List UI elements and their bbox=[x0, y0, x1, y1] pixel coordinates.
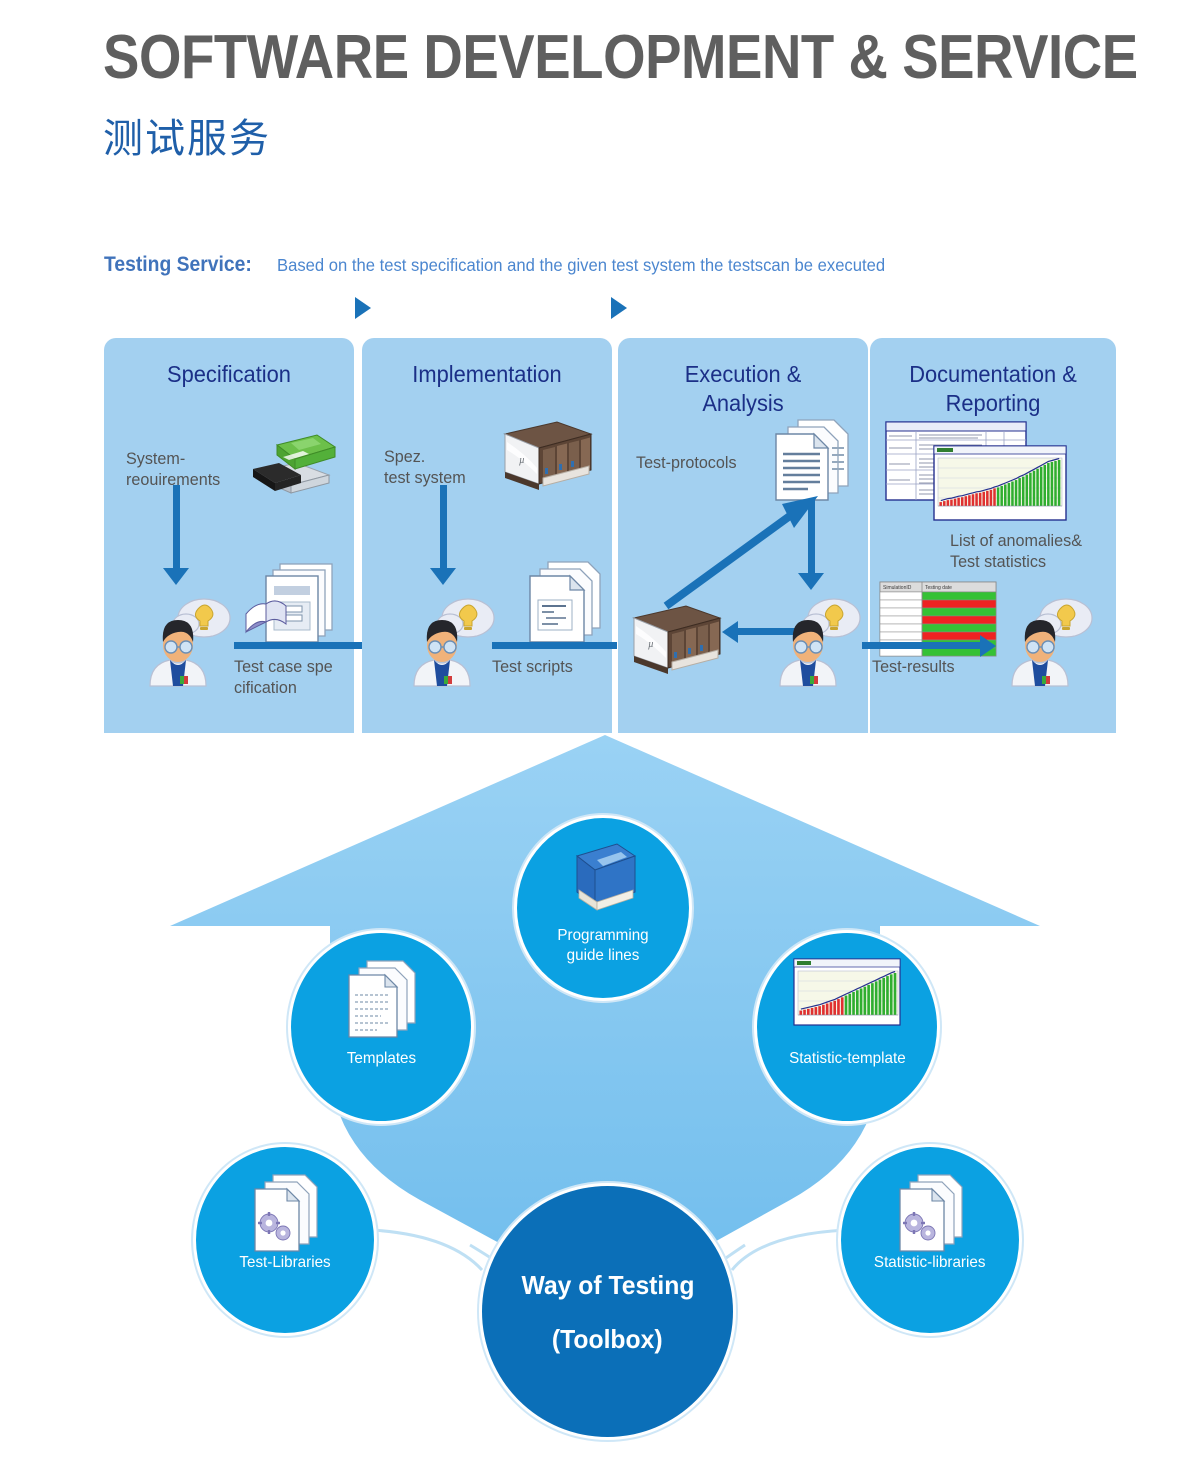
node-statistic-libraries[interactable]: Statistic-libraries bbox=[841, 1147, 1019, 1333]
node-caption: Programming guide lines bbox=[557, 926, 648, 970]
intro-text: Based on the test specification and the … bbox=[277, 255, 885, 276]
node-caption: Statistic-template bbox=[789, 1049, 906, 1073]
node-programming-guide-lines[interactable]: Programming guide lines bbox=[517, 818, 689, 998]
panel-title-implementation: Implementation bbox=[368, 360, 606, 389]
toolbox-center-line2: (Toolbox) bbox=[552, 1312, 663, 1366]
panel-title-execution: Execution & Analysis bbox=[624, 360, 862, 418]
arrow-impl-to-exec-head bbox=[611, 297, 627, 319]
svg-text:Testing date: Testing date bbox=[925, 585, 952, 591]
blue-book-icon bbox=[557, 838, 649, 918]
arrow-down-impl bbox=[440, 485, 447, 570]
arrow-right-results bbox=[862, 642, 982, 649]
arrow-right-spec bbox=[234, 642, 364, 649]
arrow-down-impl-head bbox=[430, 568, 456, 585]
node-caption: Test-Libraries bbox=[239, 1253, 330, 1277]
arrow-down-exec-head bbox=[798, 573, 824, 590]
label-spez-test-system: Spez. test system bbox=[384, 446, 508, 488]
green-book-hardware-icon bbox=[239, 423, 339, 498]
toolbox-center-line1: Way of Testing bbox=[521, 1258, 694, 1312]
node-caption: Templates bbox=[346, 1049, 415, 1073]
label-test-scripts: Test scripts bbox=[492, 656, 625, 677]
chart-icon bbox=[792, 957, 902, 1035]
arrow-down-spec bbox=[173, 485, 180, 570]
panel-title-documentation: Documentation & Reporting bbox=[876, 360, 1110, 418]
panel-title-specification: Specification bbox=[110, 360, 348, 389]
label-test-protocols: Test-protocols bbox=[636, 452, 760, 473]
label-test-case-specification: Test case spe cification bbox=[234, 656, 367, 698]
svg-text:µ: µ bbox=[648, 639, 654, 650]
label-test-results: Test-results bbox=[872, 656, 1005, 677]
arrow-right-results-head bbox=[980, 635, 996, 657]
svg-text:µ: µ bbox=[519, 455, 525, 466]
intro-label: Testing Service: bbox=[104, 253, 252, 277]
report-chart-icon bbox=[882, 418, 1072, 528]
arrow-right-impl bbox=[492, 642, 617, 649]
arrow-down-exec bbox=[808, 500, 815, 575]
intro-row: Testing Service: Based on the test speci… bbox=[104, 253, 1124, 277]
gear-documents-icon bbox=[880, 1171, 980, 1263]
svg-text:SimulationID: SimulationID bbox=[883, 585, 912, 591]
arrow-down-spec-head bbox=[163, 568, 189, 585]
panel-execution-analysis: Execution & Analysis Test-protocols bbox=[618, 338, 868, 733]
server-rack-icon: µ bbox=[626, 600, 726, 678]
node-way-of-testing-toolbox[interactable]: Way of Testing (Toolbox) bbox=[482, 1186, 733, 1437]
label-anomalies-statistics: List of anomalies& Test statistics bbox=[950, 530, 1112, 572]
panel-implementation: Implementation µ Spez. test system bbox=[362, 338, 612, 733]
arrow-spec-to-impl-head bbox=[355, 297, 371, 319]
node-test-libraries[interactable]: Test-Libraries bbox=[196, 1147, 374, 1333]
node-templates[interactable]: Templates bbox=[291, 933, 471, 1121]
scientist-idea-icon bbox=[998, 590, 1108, 690]
documents-icon bbox=[331, 957, 431, 1049]
server-rack-icon: µ bbox=[497, 416, 597, 494]
arrow-left-exec-head bbox=[722, 621, 738, 643]
label-system-requirements: System- reouirements bbox=[126, 448, 250, 490]
scientist-idea-icon bbox=[766, 590, 876, 690]
gear-documents-icon bbox=[235, 1171, 335, 1263]
scientist-idea-icon bbox=[136, 590, 246, 690]
book-documents-icon bbox=[244, 556, 354, 648]
node-statistic-template[interactable]: Statistic-template bbox=[757, 933, 937, 1121]
page-subtitle-chinese: 测试服务 bbox=[103, 115, 271, 163]
panel-documentation-reporting: Documentation & Reporting bbox=[870, 338, 1116, 733]
panel-specification: Specification System- reouirements bbox=[104, 338, 354, 733]
page-title: SOFTWARE DEVELOPMENT & SERVICE bbox=[103, 24, 983, 92]
script-documents-icon bbox=[514, 556, 614, 646]
node-caption: Statistic-libraries bbox=[874, 1253, 985, 1277]
